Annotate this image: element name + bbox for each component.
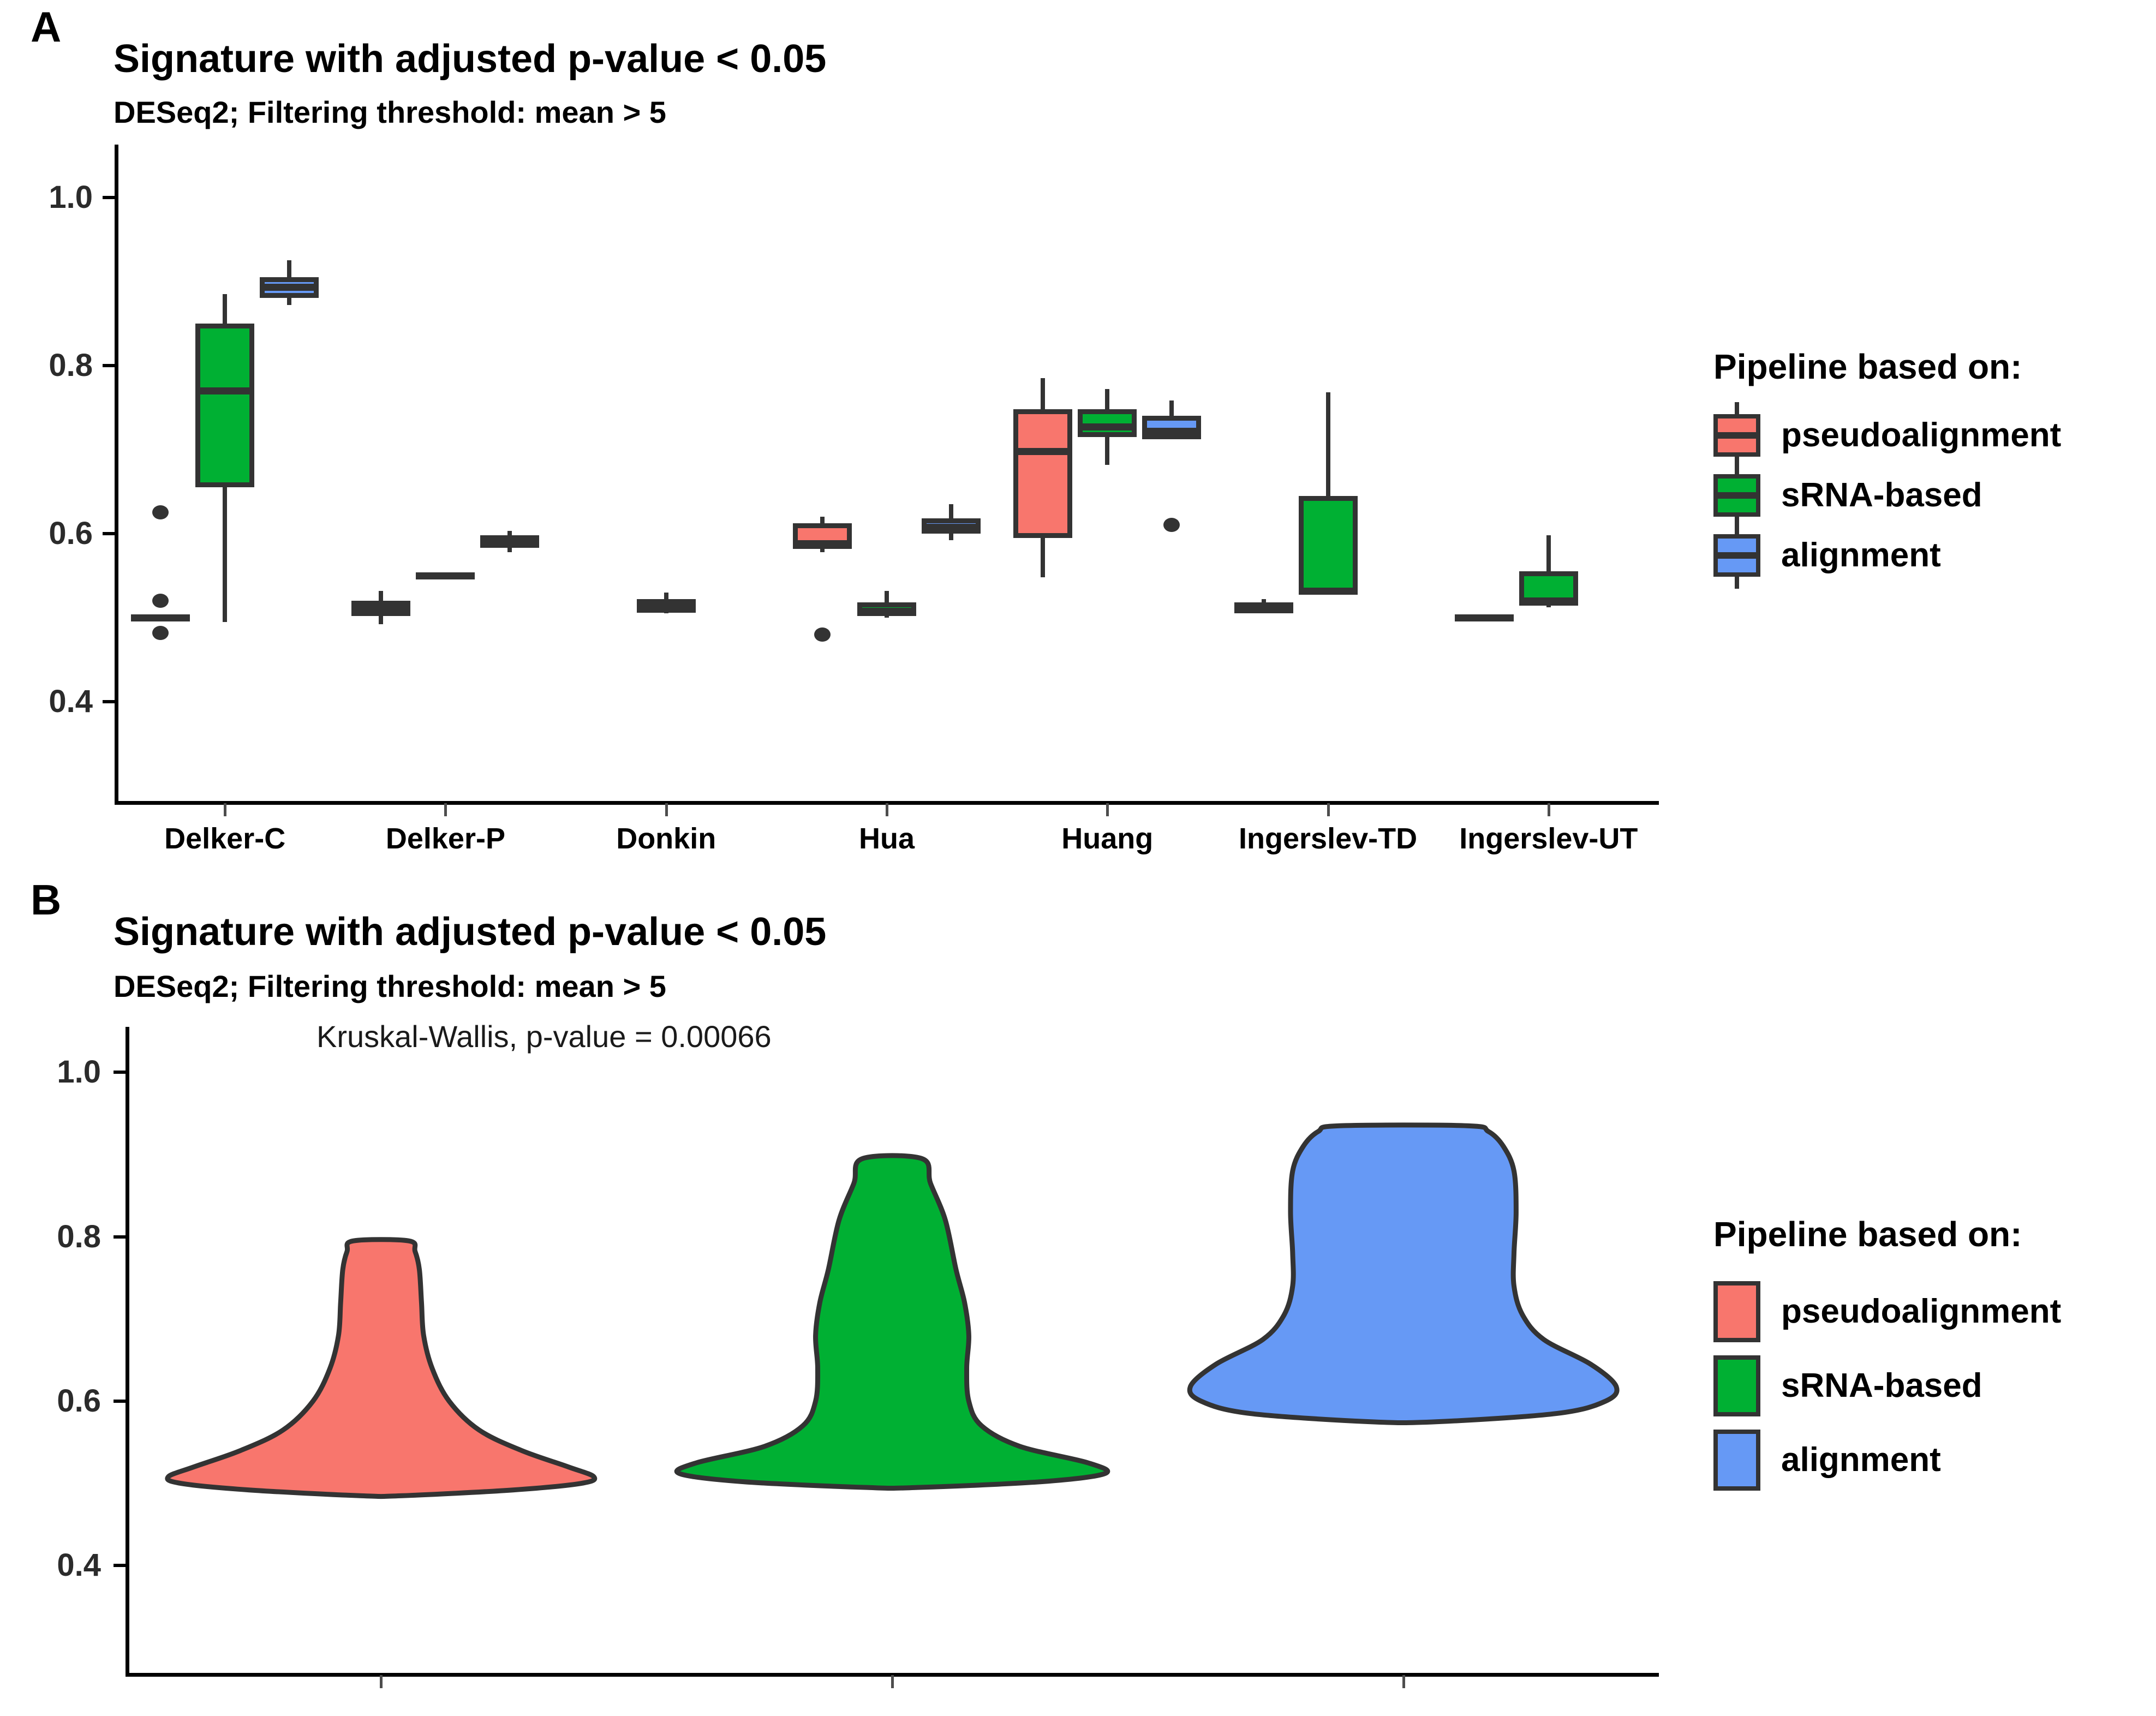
legend-title: Pipeline based on: (1713, 349, 2061, 384)
legend-label: pseudoalignment (1781, 418, 2061, 452)
violin-alignment (1190, 1125, 1617, 1423)
legend-item-srna-based[interactable]: sRNA-based (1713, 469, 2061, 522)
legend-label: sRNA-based (1781, 1369, 1982, 1403)
violin-srna-based (677, 1156, 1108, 1488)
legend-title: Pipeline based on: (1713, 1217, 2061, 1252)
x-tick-label: Ingerslev-UT (1407, 824, 1691, 853)
legend-label: alignment (1781, 1443, 1941, 1477)
legend-item-alignment[interactable]: alignment (1713, 1425, 2061, 1495)
legend-item-alignment[interactable]: alignment (1713, 529, 2061, 582)
legend-key-swatch-icon (1713, 1281, 1760, 1342)
legend-key-boxplot-icon (1713, 474, 1760, 517)
whisker-lower (1546, 606, 1551, 607)
legend-label: sRNA-based (1781, 479, 1982, 512)
legend-key-swatch-icon (1713, 1355, 1760, 1416)
whisker-upper (1546, 535, 1551, 571)
legend-item-pseudoalignment[interactable]: pseudoalignment (1713, 1277, 2061, 1347)
panel-a-legend: Pipeline based on: pseudoalignment sRNA-… (1713, 349, 2061, 589)
legend-key-boxplot-icon (1713, 534, 1760, 577)
panel-a: A Signature with adjusted p-value < 0.05… (0, 0, 2156, 873)
legend-key-swatch-icon (1713, 1430, 1760, 1491)
panel-b-legend: Pipeline based on: pseudoalignment sRNA-… (1713, 1217, 2061, 1499)
legend-label: pseudoalignment (1781, 1295, 2061, 1329)
legend-item-pseudoalignment[interactable]: pseudoalignment (1713, 409, 2061, 462)
legend-item-srna-based[interactable]: sRNA-based (1713, 1351, 2061, 1421)
legend-label: alignment (1781, 539, 1941, 572)
box-median-line (1519, 597, 1578, 605)
violin-pseudoalignment (168, 1240, 595, 1497)
panel-b: B Signature with adjusted p-value < 0.05… (0, 873, 2156, 1716)
legend-key-boxplot-icon (1713, 414, 1760, 457)
